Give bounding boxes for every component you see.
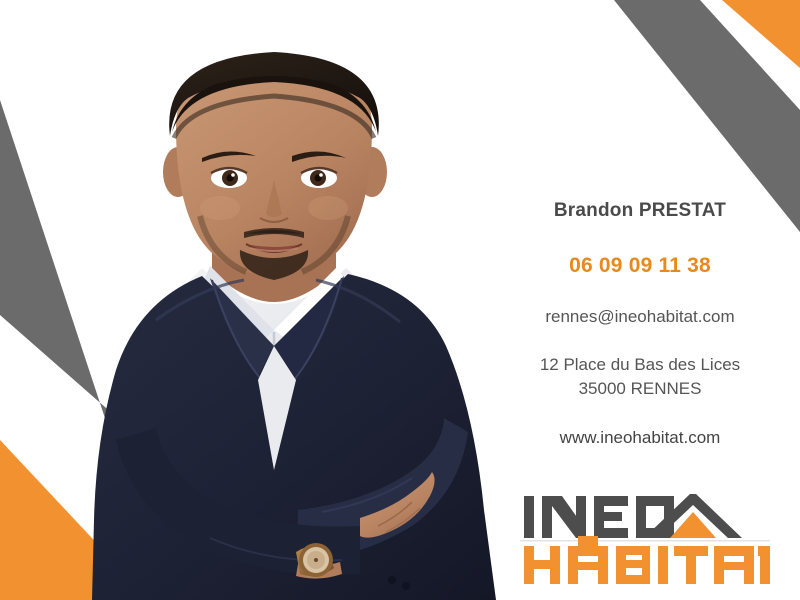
contact-phone[interactable]: 06 09 09 11 38 <box>488 253 792 278</box>
contact-block: Brandon PRESTAT 06 09 09 11 38 rennes@in… <box>488 200 792 448</box>
address-line-2: 35000 RENNES <box>488 377 792 401</box>
logo-divider <box>520 540 770 542</box>
business-card: Brandon PRESTAT 06 09 09 11 38 rennes@in… <box>0 0 800 600</box>
contact-website[interactable]: www.ineohabitat.com <box>488 427 792 448</box>
portrait-illustration <box>60 40 520 600</box>
ineo-habitat-logo[interactable] <box>520 488 770 588</box>
logo-habitat-text <box>524 536 770 584</box>
orange-corner-triangle <box>722 0 800 68</box>
contact-address: 12 Place du Bas des Lices 35000 RENNES <box>488 353 792 401</box>
contact-email[interactable]: rennes@ineohabitat.com <box>488 306 792 327</box>
contact-name: Brandon PRESTAT <box>488 200 792 223</box>
address-line-1: 12 Place du Bas des Lices <box>488 353 792 377</box>
portrait-photo <box>60 40 520 600</box>
gray-diagonal-stripe-right <box>614 0 800 232</box>
logo-graphic <box>520 488 770 588</box>
